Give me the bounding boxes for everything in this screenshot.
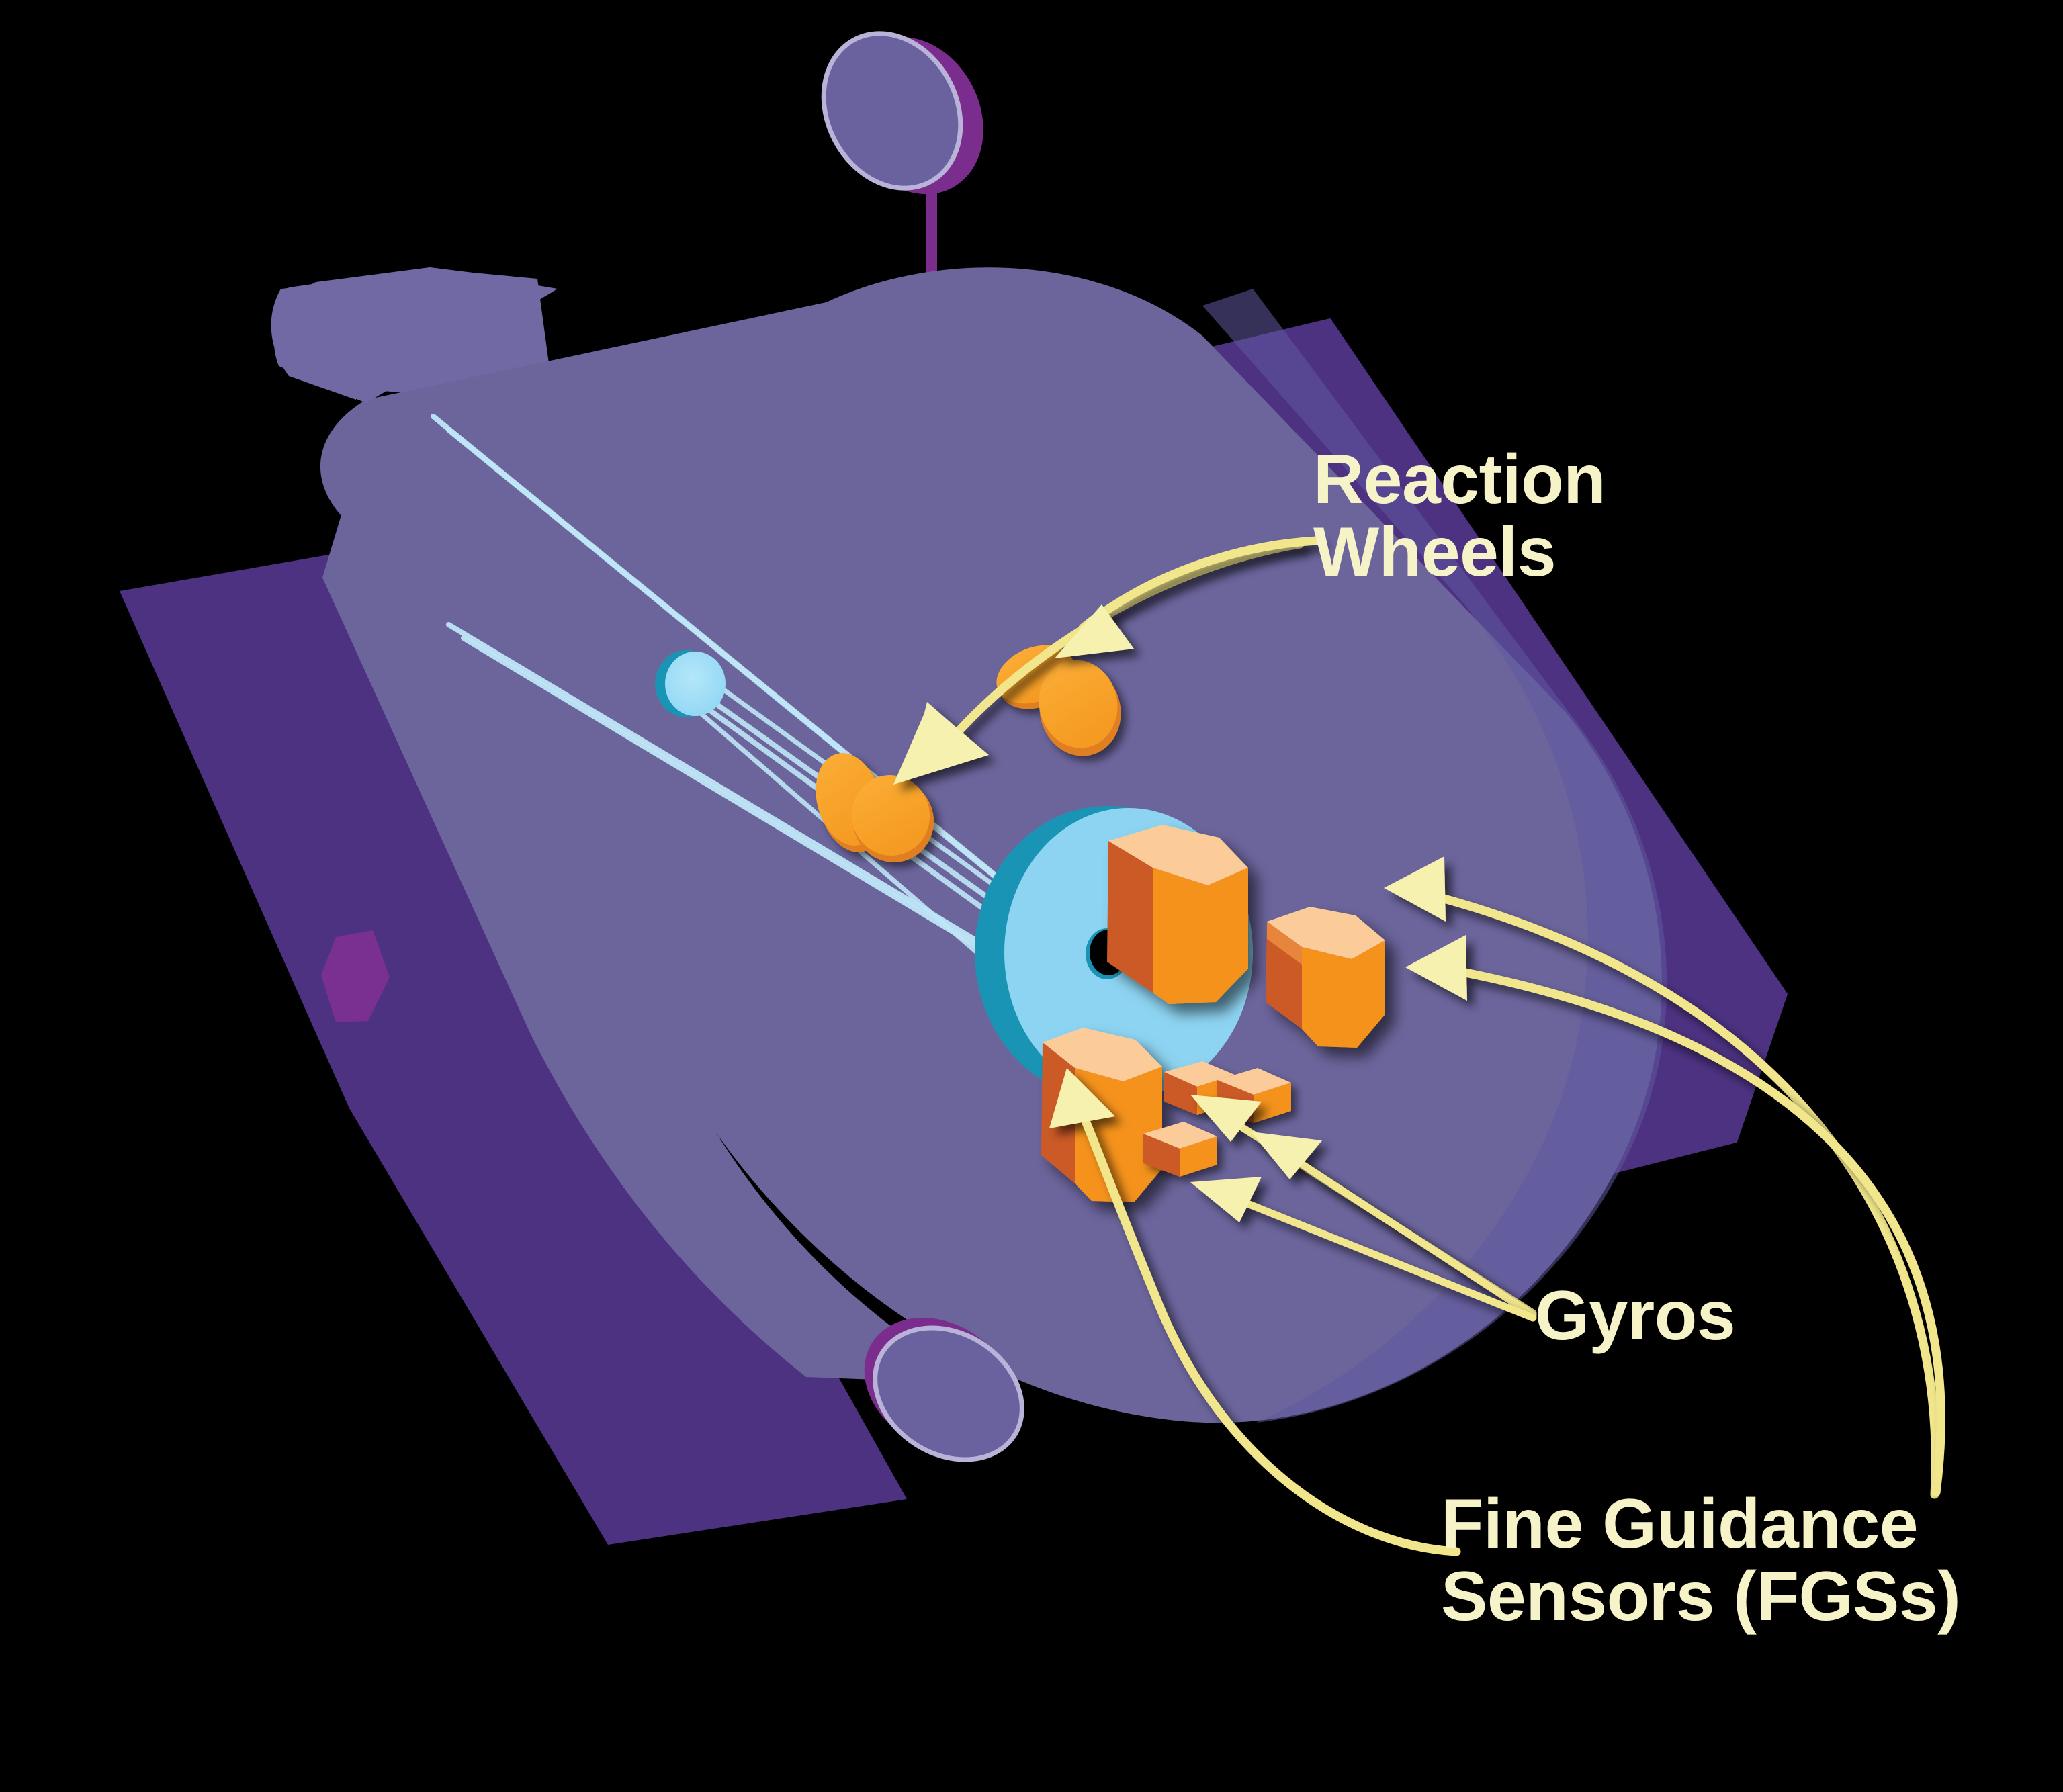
secondary-mirror	[655, 650, 726, 717]
callout-label-reaction-wheels: Reaction Wheels	[1313, 443, 1606, 588]
hubble-diagram-figure: Reaction Wheels Gyros Fine Guidance Sens…	[0, 0, 2063, 1792]
callout-label-gyros: Gyros	[1535, 1280, 1735, 1352]
callout-label-fine-guidance-sensors: Fine Guidance Sensors (FGSs)	[1441, 1488, 1960, 1633]
